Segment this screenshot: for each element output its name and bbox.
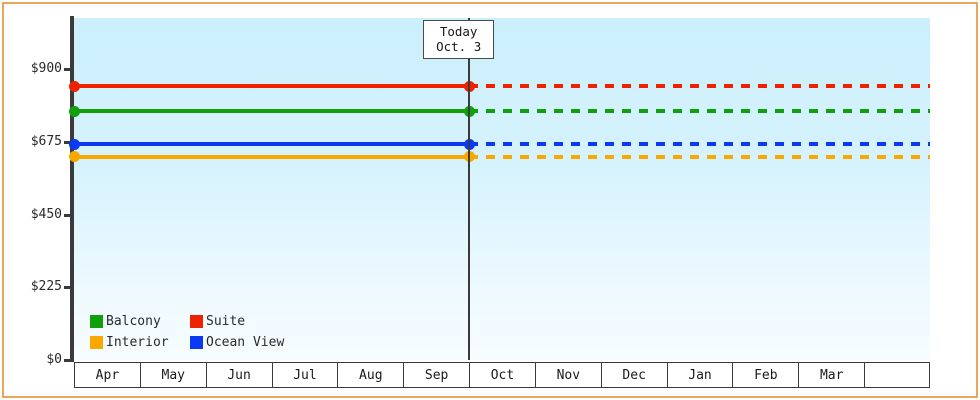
legend-swatch-icon: [90, 336, 103, 349]
x-axis-month-cell[interactable]: Apr: [74, 362, 140, 388]
series-line-actual: [74, 84, 469, 88]
series-line-actual: [74, 109, 469, 113]
today-vertical-line: [468, 18, 470, 360]
legend-item[interactable]: Balcony: [90, 314, 190, 329]
chart-legend: BalconySuiteInteriorOcean View: [90, 311, 284, 353]
y-axis-tick-label: $450: [2, 208, 62, 221]
legend-swatch-icon: [90, 315, 103, 328]
x-axis-month-cell[interactable]: Mar: [798, 362, 864, 388]
y-axis-tick-label: $0: [2, 353, 62, 366]
x-axis-month-cell[interactable]: Oct: [469, 362, 535, 388]
legend-swatch-icon: [190, 336, 203, 349]
x-axis-months: AprMayJunJulAugSepOctNovDecJanFebMar: [74, 362, 930, 388]
series-marker-start: [69, 81, 80, 92]
series-line-forecast: [469, 155, 930, 159]
chart-frame: $900$675$450$225$0 Today Oct. 3 BalconyS…: [0, 0, 980, 400]
series-line-forecast: [469, 84, 930, 88]
x-axis-month-cell[interactable]: Jun: [206, 362, 272, 388]
x-axis-month-cell[interactable]: Jul: [272, 362, 338, 388]
legend-label: Interior: [106, 335, 169, 350]
legend-swatch-icon: [190, 315, 203, 328]
legend-label: Balcony: [106, 314, 161, 329]
x-axis-month-cell[interactable]: Feb: [732, 362, 798, 388]
legend-item[interactable]: Suite: [190, 314, 284, 329]
series-line-forecast: [469, 142, 930, 146]
today-label: Today: [436, 24, 481, 39]
x-axis-month-cell[interactable]: Sep: [403, 362, 469, 388]
x-axis-month-cell-partial[interactable]: [864, 362, 930, 388]
x-axis-month-cell[interactable]: Dec: [601, 362, 667, 388]
plot-area: [74, 18, 930, 360]
x-axis-month-cell[interactable]: Jan: [667, 362, 733, 388]
y-axis-tick-label: $900: [2, 62, 62, 75]
series-line-actual: [74, 155, 469, 159]
y-axis-tick-label: $225: [2, 280, 62, 293]
legend-item[interactable]: Ocean View: [190, 335, 284, 350]
x-axis-month-cell[interactable]: Nov: [535, 362, 601, 388]
x-axis-month-cell[interactable]: Aug: [337, 362, 403, 388]
y-axis-tick-label: $675: [2, 135, 62, 148]
series-line-actual: [74, 142, 469, 146]
today-date: Oct. 3: [436, 39, 481, 54]
legend-label: Ocean View: [206, 335, 284, 350]
y-axis-tick: [64, 214, 74, 217]
today-callout: Today Oct. 3: [423, 20, 494, 59]
series-marker-start: [69, 139, 80, 150]
y-axis-tick: [64, 286, 74, 289]
y-axis-tick: [64, 359, 74, 362]
x-axis-month-cell[interactable]: May: [140, 362, 206, 388]
series-marker-start: [69, 106, 80, 117]
series-line-forecast: [469, 109, 930, 113]
legend-label: Suite: [206, 314, 245, 329]
legend-item[interactable]: Interior: [90, 335, 190, 350]
y-axis-tick: [64, 68, 74, 71]
